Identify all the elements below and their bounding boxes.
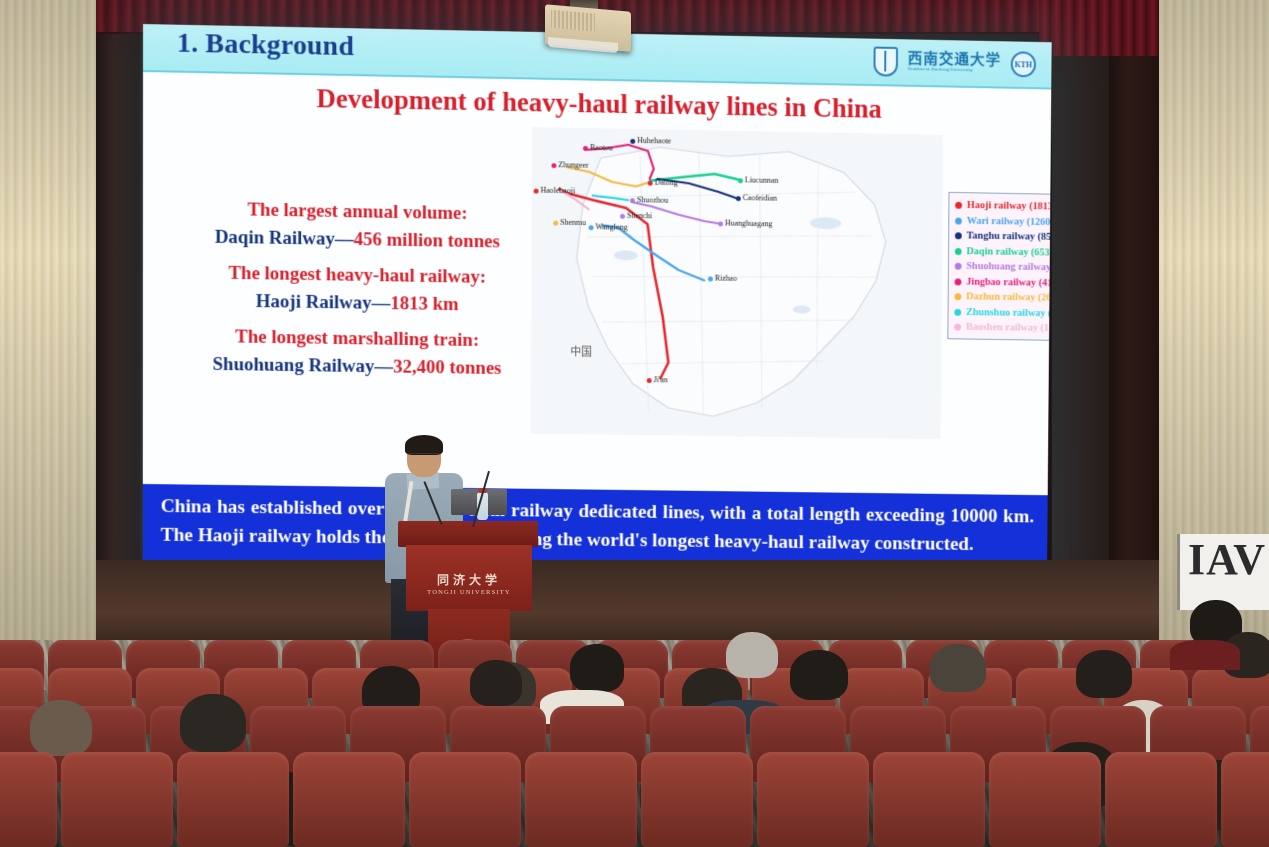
poster-text: IAV — [1188, 538, 1266, 582]
swjtu-shield-icon — [873, 47, 898, 77]
map-city-label: Rizhao — [715, 274, 737, 283]
map-city-dot — [630, 139, 635, 144]
podium-top-surface — [398, 521, 538, 547]
map-city-dot — [551, 163, 556, 168]
stat-answer-1: Daqin Railway—456 million tonnes — [169, 226, 545, 254]
audience-seat — [525, 752, 637, 847]
audience-head — [570, 644, 624, 692]
map-city-label: Zhungeer — [558, 160, 588, 169]
legend-label: Jingbao railway (414 km) — [966, 276, 1051, 289]
map-city-label: Shenchi — [627, 211, 652, 220]
speaker-hair — [405, 435, 443, 455]
map-city-label: Haolebaoji — [541, 186, 576, 196]
map-city-dot — [583, 146, 588, 151]
map-city-label: Huanghuagang — [725, 219, 772, 229]
map-city-label: Datong — [655, 178, 678, 187]
legend-label: Dazhun railway (264 km) — [966, 292, 1052, 305]
audience-seat — [641, 752, 753, 847]
legend-color-dot — [954, 309, 961, 316]
map-city-dot — [718, 221, 723, 226]
audience-seat — [757, 752, 869, 847]
map-city-label: Shenmu — [560, 218, 586, 227]
map-city-label: Huhehaote — [637, 136, 671, 146]
presentation-slide: 1. Background 西南交通大学 Southwest Jiaotong … — [143, 24, 1052, 597]
map-city-label: Caofeidian — [743, 193, 777, 202]
audience-head — [470, 660, 522, 706]
kth-logo-icon: KTH — [1011, 51, 1036, 77]
audience-head — [180, 694, 246, 752]
audience-seat — [1105, 752, 1217, 847]
audience-head — [930, 644, 986, 692]
map-city-label: Ji'an — [654, 375, 668, 384]
iav-poster: IAV — [1177, 534, 1269, 610]
map-city-dot — [630, 198, 635, 203]
legend-color-dot — [954, 324, 961, 331]
map-city-dot — [647, 378, 652, 383]
audience-seat — [0, 752, 57, 847]
stat-answer-3: Shuohuang Railway—32,400 tonnes — [169, 353, 545, 380]
legend-label: Baoshen railway (192 km) — [966, 322, 1052, 335]
legend-color-dot — [955, 278, 962, 285]
map-city-label: Liucunnan — [745, 175, 779, 184]
audience-shoulder — [1170, 640, 1240, 670]
slide-logos: 西南交通大学 Southwest Jiaotong University KTH — [873, 47, 1036, 80]
china-railway-map: 中国 BaotouHuhehaoteZhungeerDatongLiucunna… — [531, 127, 943, 439]
map-city-dot — [738, 178, 743, 183]
audience-seat — [873, 752, 985, 847]
legend-color-dot — [955, 233, 962, 240]
audience-seat — [1221, 752, 1269, 847]
stat-question-2: The longest heavy-haul railway: — [169, 262, 545, 290]
podium-university-en: TONGJI UNIVERSITY — [406, 589, 532, 596]
banner-part-1: China has established over — [161, 496, 384, 519]
map-city-dot — [620, 214, 625, 219]
stat-question-1: The largest annual volume: — [169, 198, 546, 226]
audience-head — [30, 700, 92, 756]
lecture-hall-room: 1. Background 西南交通大学 Southwest Jiaotong … — [0, 0, 1269, 847]
legend-row: Baoshen railway (192 km) — [954, 320, 1052, 338]
legend-label: Shuohuang railway (594 km) — [966, 261, 1051, 274]
map-city-dot — [589, 225, 594, 230]
podium-front-panel: 同济大学 TONGJI UNIVERSITY — [406, 545, 532, 611]
statistics-block: The largest annual volume: Daqin Railway… — [169, 184, 546, 380]
audience-seat — [409, 752, 521, 847]
map-city-dot — [648, 181, 653, 186]
audience-seat — [293, 752, 405, 847]
legend-label: Daqin railway (653 km) — [966, 246, 1051, 258]
legend-label: Zhunshuo railway (215 km) — [966, 307, 1052, 320]
swjtu-logo-text: 西南交通大学 Southwest Jiaotong University — [908, 52, 1002, 75]
legend-label: Tanghu railway (852 km) — [967, 231, 1052, 244]
map-country-label: 中国 — [570, 343, 592, 359]
map-city-dot — [708, 276, 713, 281]
speaker-glasses-icon — [409, 453, 439, 459]
slide-main-title: Development of heavy-haul railway lines … — [143, 80, 1051, 128]
railway-legend: Haoji railway (1813 km)Wari railway (126… — [947, 192, 1051, 342]
projection-screen: 1. Background 西南交通大学 Southwest Jiaotong … — [143, 24, 1052, 597]
map-city-label: Shuozhou — [637, 195, 668, 204]
audience-head — [726, 632, 778, 678]
legend-label: Wari railway (1260 km) — [967, 216, 1052, 229]
stage-curtain-right — [1039, 0, 1159, 56]
audience-seat — [61, 752, 173, 847]
stat-answer-2: Haoji Railway—1813 km — [169, 290, 545, 318]
map-city-dot — [553, 221, 558, 226]
legend-label: Haoji railway (1813 km) — [967, 200, 1052, 213]
stat-question-3: The longest marshalling train: — [169, 326, 545, 353]
podium-university-cn: 同济大学 — [406, 571, 532, 588]
audience-seat — [177, 752, 289, 847]
map-city-dot — [736, 196, 741, 201]
legend-color-dot — [955, 202, 962, 209]
legend-color-dot — [955, 217, 962, 224]
audience-seat — [989, 752, 1101, 847]
legend-color-dot — [954, 293, 961, 300]
map-city-label: Baotou — [590, 143, 613, 152]
slide-section-title: 1. Background — [177, 28, 354, 63]
legend-color-dot — [955, 263, 962, 270]
legend-color-dot — [955, 248, 962, 255]
map-base-outline — [531, 127, 943, 439]
map-city-label: Wanglong — [595, 222, 627, 231]
audience-head — [1076, 650, 1132, 698]
audience-head — [790, 650, 848, 700]
